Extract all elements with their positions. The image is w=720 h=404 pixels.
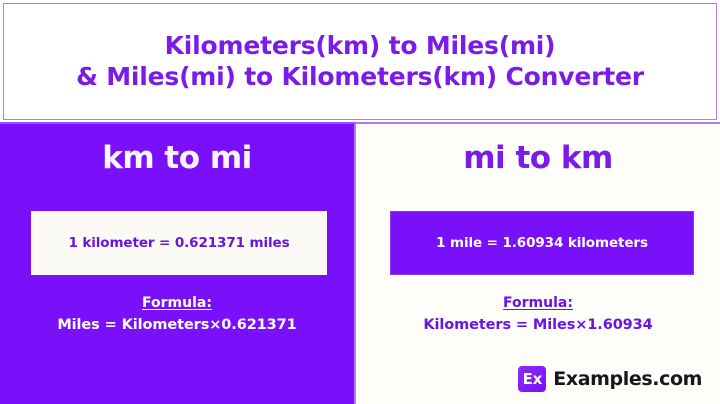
header-banner: Kilometers(km) to Miles(mi) & Miles(mi) … xyxy=(3,3,717,120)
fact-box-km-to-mi: 1 kilometer = 0.621371 miles xyxy=(31,211,327,275)
converter-panels: km to mi 1 kilometer = 0.621371 miles Fo… xyxy=(0,122,720,404)
formula-label-km-to-mi: Formula: xyxy=(142,295,212,311)
fact-text-km-to-mi: 1 kilometer = 0.621371 miles xyxy=(68,235,289,251)
formula-expression-km-to-mi: Miles = Kilometers×0.621371 xyxy=(0,317,354,333)
panel-km-to-mi: km to mi 1 kilometer = 0.621371 miles Fo… xyxy=(0,122,356,404)
panel-heading-km-to-mi: km to mi xyxy=(0,140,354,176)
brand-logo: Ex Examples.com xyxy=(518,366,702,392)
formula-block-mi-to-km: Formula: Kilometers = Miles×1.60934 xyxy=(356,292,720,333)
examples-badge-icon: Ex xyxy=(518,366,546,392)
formula-block-km-to-mi: Formula: Miles = Kilometers×0.621371 xyxy=(0,292,354,333)
converter-infographic: Kilometers(km) to Miles(mi) & Miles(mi) … xyxy=(0,0,720,404)
formula-expression-mi-to-km: Kilometers = Miles×1.60934 xyxy=(356,317,720,333)
panel-mi-to-km: mi to km 1 mile = 1.60934 kilometers For… xyxy=(356,122,720,404)
fact-box-mi-to-km: 1 mile = 1.60934 kilometers xyxy=(390,211,694,275)
fact-text-mi-to-km: 1 mile = 1.60934 kilometers xyxy=(436,235,648,251)
panel-heading-mi-to-km: mi to km xyxy=(356,140,720,176)
formula-label-mi-to-km: Formula: xyxy=(503,295,573,311)
page-title: Kilometers(km) to Miles(mi) & Miles(mi) … xyxy=(76,31,644,92)
brand-name: Examples.com xyxy=(553,368,702,390)
